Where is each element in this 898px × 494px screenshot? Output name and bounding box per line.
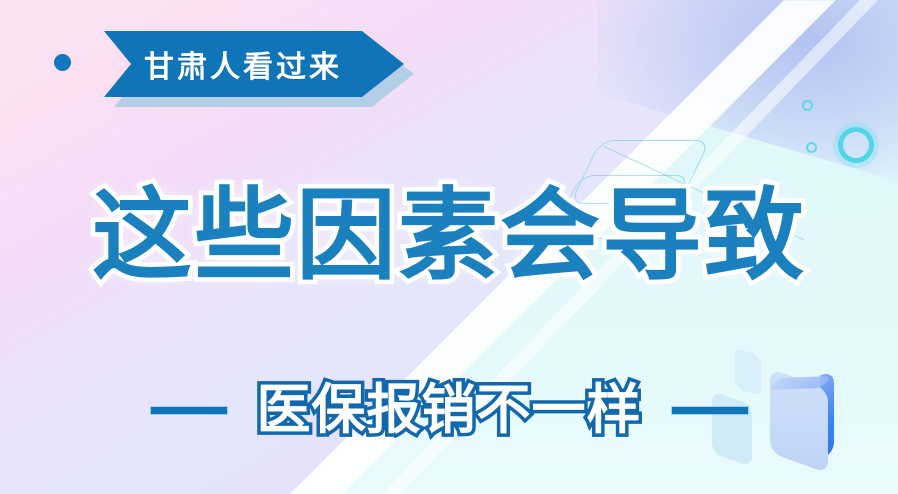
- cyan-ring-decoration: [838, 127, 874, 163]
- subtitle-right-dash: [672, 407, 748, 414]
- ribbon-banner: 甘肃人看过来: [104, 31, 416, 103]
- cyan-small-ring-decoration: [802, 100, 813, 111]
- subtitle-row: 医保报销不一样: [0, 372, 898, 448]
- subtitle-text: 医保报销不一样: [257, 383, 642, 437]
- blue-dot-decoration: [54, 54, 71, 71]
- cyan-small-ring-decoration: [806, 142, 817, 153]
- ribbon-label: 甘肃人看过来: [144, 42, 364, 86]
- subtitle-left-dash: [151, 407, 227, 414]
- headline-title: 这些因素会导致: [0, 186, 898, 286]
- poster-canvas: 甘肃人看过来 这些因素会导致 医保报销不一样: [0, 0, 898, 494]
- ribbon-shape: 甘肃人看过来: [104, 31, 404, 97]
